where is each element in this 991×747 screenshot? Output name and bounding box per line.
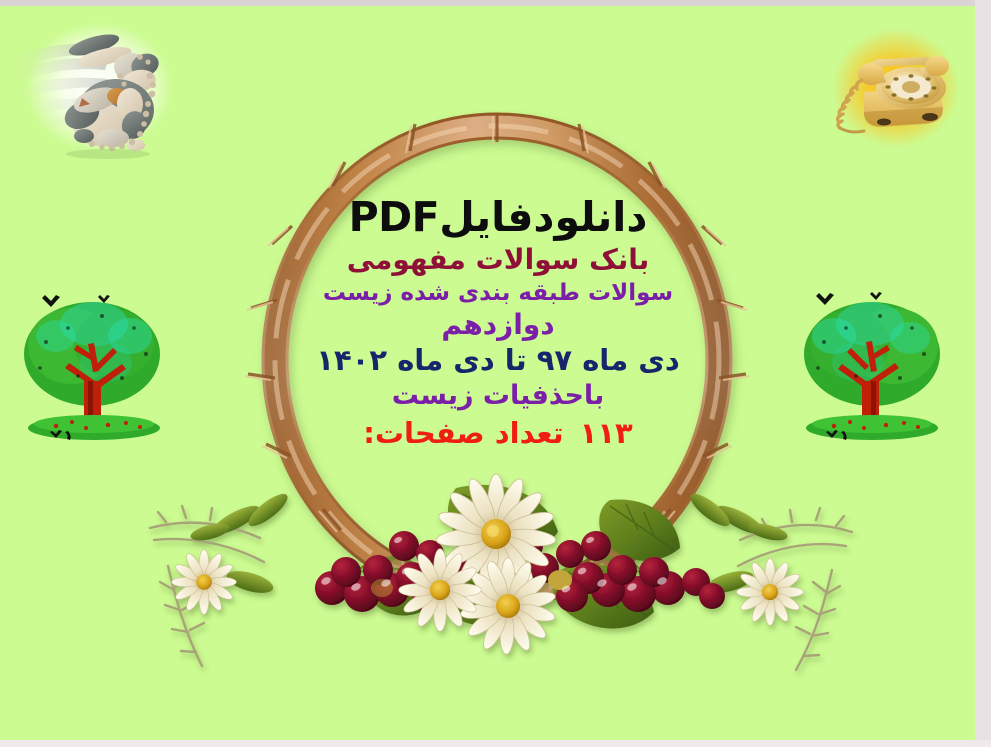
top-edge-strip bbox=[0, 0, 991, 6]
bottom-edge-strip bbox=[0, 740, 991, 747]
exclusions-label: باحذفیات زیست bbox=[296, 382, 700, 410]
rotary-telephone-icon bbox=[812, 14, 980, 162]
poster-text-block: دانلودفایلPDF بانک سوالات مفهومی سوالات … bbox=[296, 196, 700, 448]
page-count-label: تعداد صفحات: bbox=[363, 416, 563, 450]
page-count-row: ۱۱۳تعداد صفحات: bbox=[296, 418, 700, 448]
stone-rabbit-icon bbox=[8, 12, 190, 162]
floral-swag-decoration bbox=[140, 470, 860, 700]
poster-canvas: دانلودفایلPDF بانک سوالات مفهومی سوالات … bbox=[0, 0, 991, 747]
page-title: دانلودفایلPDF bbox=[296, 196, 700, 239]
page-count-value: ۱۱۳ bbox=[580, 416, 633, 450]
tree-right-icon bbox=[788, 276, 963, 451]
subtitle-question-bank: بانک سوالات مفهومی bbox=[296, 245, 700, 274]
date-range-label: دی ماه ۹۷ تا دی ماه ۱۴۰۲ bbox=[296, 345, 700, 375]
subtitle-categorized: سوالات طبقه بندی شده زیست bbox=[296, 281, 700, 305]
tree-left-icon bbox=[10, 276, 185, 451]
grade-label: دوازدهم bbox=[296, 310, 700, 339]
